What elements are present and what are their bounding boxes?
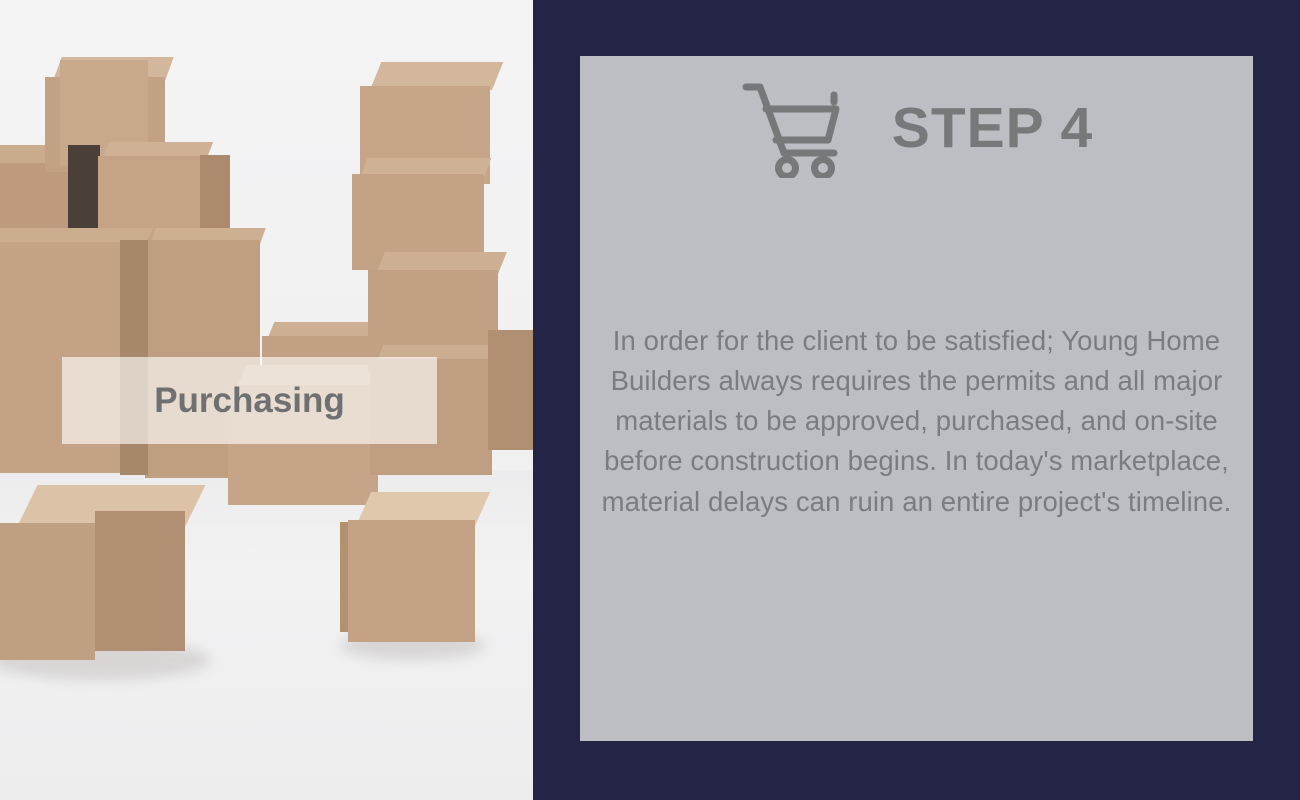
shopping-cart-icon (740, 78, 848, 178)
photo-caption-label: Purchasing (154, 381, 345, 421)
step-title: STEP 4 (892, 100, 1093, 157)
photo-caption-band: Purchasing (62, 357, 437, 444)
slide-root: Purchasing STEP 4 In order for the clien… (0, 0, 1300, 800)
photo-box (340, 492, 475, 642)
cardboard-boxes-photo: Purchasing (0, 0, 533, 800)
photo-box (0, 485, 185, 660)
step-card-header: STEP 4 (580, 78, 1253, 178)
step-card: STEP 4 In order for the client to be sat… (580, 56, 1253, 741)
navy-panel: STEP 4 In order for the client to be sat… (533, 0, 1300, 800)
step-description: In order for the client to be satisfied;… (598, 321, 1235, 522)
photo-box (488, 330, 533, 450)
